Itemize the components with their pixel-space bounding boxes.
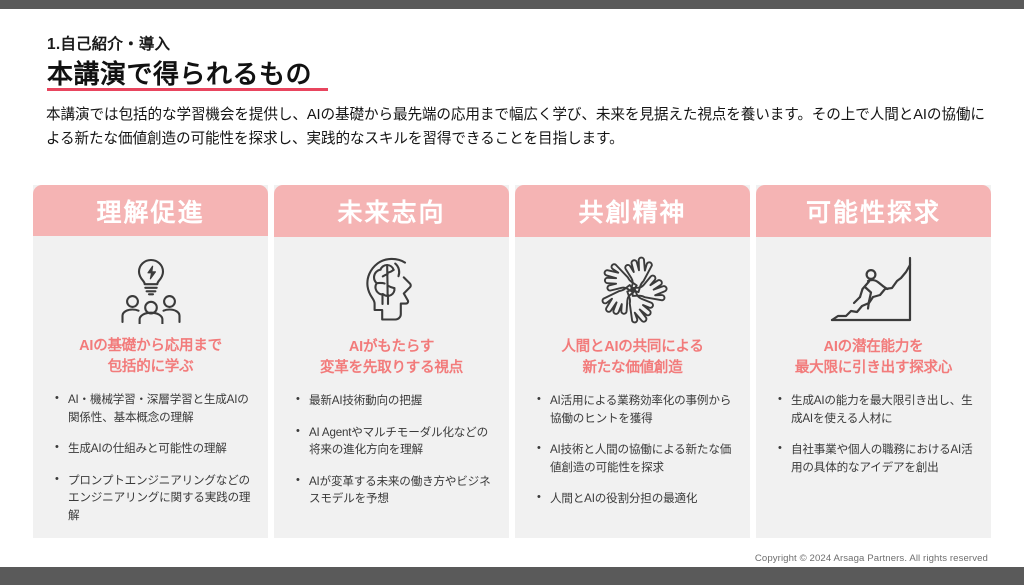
card-subtitle-line2: 包括的に学ぶ — [108, 359, 194, 375]
list-item: 生成AIの能力を最大限引き出し、生成AIを使える人材に — [776, 392, 975, 427]
card-grid: 理解促進 — [33, 185, 991, 538]
card-header: 理解促進 — [33, 185, 268, 236]
card-understanding: 理解促進 — [33, 185, 268, 538]
card-body: AIがもたらす 変革を先取りする視点 最新AI技術動向の把握 AI Agentや… — [274, 237, 509, 538]
list-item: プロンプトエンジニアリングなどのエンジニアリングに関する実践の理解 — [53, 472, 252, 525]
card-header-label: 理解促進 — [96, 193, 204, 229]
card-co-creation: 共創精神 — [515, 185, 750, 538]
card-subtitle: AIの基礎から応用まで 包括的に学ぶ — [79, 336, 222, 378]
list-item: AIが変革する未来の働き方やビジネスモデルを予想 — [294, 473, 493, 508]
card-subtitle-line2: 変革を先取りする視点 — [320, 360, 463, 376]
card-header-label: 共創精神 — [578, 193, 686, 229]
card-potential-exploration: 可能性探求 — [756, 185, 991, 538]
head-brain-icon — [357, 253, 427, 327]
card-bullet-list: 最新AI技術動向の把握 AI Agentやマルチモーダル化などの将来の進化方向を… — [286, 392, 497, 522]
card-header: 共創精神 — [515, 185, 750, 237]
list-item: AI活用による業務効率化の事例から協働のヒントを獲得 — [535, 392, 734, 427]
joined-hands-icon — [590, 253, 676, 327]
card-bullet-list: AI活用による業務効率化の事例から協働のヒントを獲得 AI技術と人間の協働による… — [527, 392, 738, 522]
card-subtitle-line2: 最大限に引き出す探求心 — [795, 360, 952, 376]
page-title: 本講演で得られるもの — [47, 54, 312, 91]
lightbulb-people-icon — [112, 252, 190, 326]
list-item: 生成AIの仕組みと可能性の理解 — [53, 440, 252, 458]
card-header-label: 未来志向 — [337, 193, 445, 229]
card-subtitle: AIの潜在能力を 最大限に引き出す探求心 — [795, 337, 952, 379]
list-item: AI技術と人間の協働による新たな価値創造の可能性を探求 — [535, 441, 734, 476]
card-subtitle-line1: 人間とAIの共同による — [561, 339, 703, 355]
intro-paragraph: 本講演では包括的な学習機会を提供し、AIの基礎から最先端の応用まで幅広く学び、未… — [46, 103, 986, 151]
card-subtitle-line1: AIの基礎から応用まで — [79, 338, 222, 354]
card-future-oriented: 未来志向 — [274, 185, 509, 538]
section-eyebrow: 1.自己紹介・導入 — [47, 32, 170, 54]
card-bullet-list: AI・機械学習・深層学習と生成AIの関係性、基本概念の理解 生成AIの仕組みと可… — [45, 391, 256, 538]
card-header: 可能性探求 — [756, 185, 991, 237]
card-subtitle-line1: AIがもたらす — [349, 339, 434, 355]
mountain-climber-icon — [824, 253, 924, 327]
card-header: 未来志向 — [274, 185, 509, 237]
card-subtitle-line1: AIの潜在能力を — [824, 339, 924, 355]
footer-copyright: Copyright © 2024 Arsaga Partners. All ri… — [755, 553, 988, 564]
list-item: 自社事業や個人の職務におけるAI活用の具体的なアイデアを創出 — [776, 441, 975, 476]
card-body: AIの基礎から応用まで 包括的に学ぶ AI・機械学習・深層学習と生成AIの関係性… — [33, 236, 268, 538]
list-item: 最新AI技術動向の把握 — [294, 392, 493, 410]
slide-content: 1.自己紹介・導入 本講演で得られるもの 本講演では包括的な学習機会を提供し、A… — [0, 9, 1024, 585]
card-subtitle-line2: 新たな価値創造 — [582, 360, 682, 376]
list-item: AI Agentやマルチモーダル化などの将来の進化方向を理解 — [294, 424, 493, 459]
card-body: AIの潜在能力を 最大限に引き出す探求心 生成AIの能力を最大限引き出し、生成A… — [756, 237, 991, 538]
card-bullet-list: 生成AIの能力を最大限引き出し、生成AIを使える人材に 自社事業や個人の職務にお… — [768, 392, 979, 490]
card-body: 人間とAIの共同による 新たな価値創造 AI活用による業務効率化の事例から協働の… — [515, 237, 750, 538]
list-item: AI・機械学習・深層学習と生成AIの関係性、基本概念の理解 — [53, 391, 252, 426]
card-subtitle: AIがもたらす 変革を先取りする視点 — [320, 337, 463, 379]
list-item: 人間とAIの役割分担の最適化 — [535, 490, 734, 508]
slide: 1.自己紹介・導入 本講演で得られるもの 本講演では包括的な学習機会を提供し、A… — [0, 0, 1024, 576]
card-subtitle: 人間とAIの共同による 新たな価値創造 — [561, 337, 703, 379]
card-header-label: 可能性探求 — [806, 193, 941, 229]
title-underline — [47, 88, 328, 91]
